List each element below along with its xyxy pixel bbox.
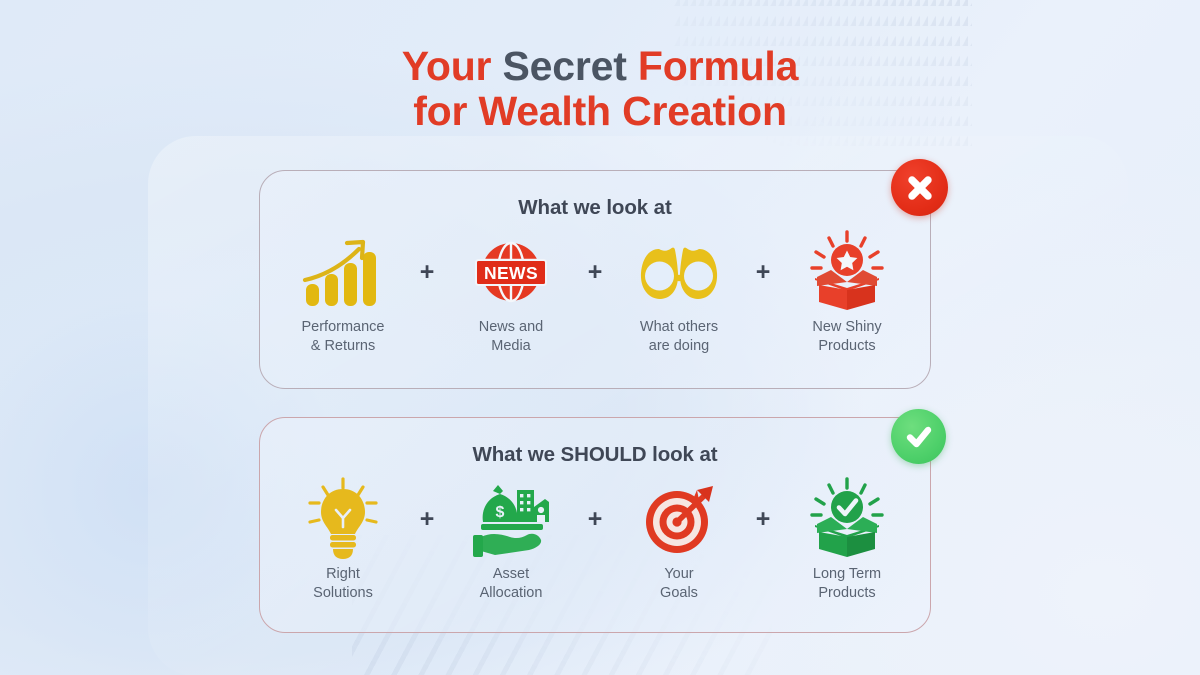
- item-label: Your Goals: [660, 565, 698, 603]
- separator-plus: +: [409, 475, 445, 563]
- news-globe-icon: NEWS: [465, 228, 557, 316]
- target-dart-icon: [633, 475, 725, 563]
- svg-text:NEWS: NEWS: [484, 263, 538, 283]
- page-title-word-formula: Formula: [627, 43, 799, 89]
- item-label: Performance & Returns: [301, 318, 384, 356]
- card-heading-what-we-should-look-at: What we SHOULD look at: [260, 443, 930, 467]
- card-what-we-should-look-at: What we SHOULD look at: [259, 417, 931, 633]
- shiny-box-star-icon: [801, 228, 893, 316]
- bar-chart-growth-icon: [297, 228, 389, 316]
- item-new-shiny-products: New Shiny Products: [781, 228, 913, 356]
- separator-plus: +: [745, 475, 781, 563]
- item-asset-allocation: $ Asset Al: [445, 475, 577, 603]
- lightbulb-idea-icon: [297, 475, 389, 563]
- page-title: Your Secret Formula for Wealth Creation: [0, 44, 1200, 134]
- separator-plus: +: [577, 475, 613, 563]
- svg-text:$: $: [496, 504, 505, 521]
- item-label: Long Term Products: [813, 565, 881, 603]
- separator-plus: +: [577, 228, 613, 316]
- card-what-we-look-at: What we look at Performance: [259, 170, 931, 389]
- card-heading-what-we-look-at: What we look at: [260, 196, 930, 220]
- check-icon: [902, 420, 936, 454]
- cross-icon: [903, 171, 937, 205]
- item-news-and-media: NEWS News and Media: [445, 228, 577, 356]
- item-what-others-are-doing: What others are doing: [613, 228, 745, 356]
- page-title-word-your: Your: [402, 43, 503, 89]
- item-row-what-we-look-at: Performance & Returns + NEWS: [260, 228, 930, 356]
- item-right-solutions: Right Solutions: [277, 475, 409, 603]
- status-badge-negative: [891, 159, 948, 216]
- infographic-canvas: Your Secret Formula for Wealth Creation …: [0, 0, 1200, 675]
- item-label: Right Solutions: [313, 565, 373, 603]
- separator-plus: +: [745, 228, 781, 316]
- hand-assets-icon: $: [465, 475, 557, 563]
- status-badge-positive: [891, 409, 946, 464]
- item-label: News and Media: [479, 318, 543, 356]
- item-label: What others are doing: [640, 318, 718, 356]
- box-check-icon: [801, 475, 893, 563]
- page-title-word-secret: Secret: [503, 43, 627, 89]
- item-row-what-we-should-look-at: Right Solutions + $: [260, 475, 930, 603]
- separator-plus: +: [409, 228, 445, 316]
- item-label: New Shiny Products: [812, 318, 881, 356]
- page-title-line-2: for Wealth Creation: [0, 89, 1200, 134]
- item-long-term-products: Long Term Products: [781, 475, 913, 603]
- item-your-goals: Your Goals: [613, 475, 745, 603]
- binoculars-icon: [633, 228, 725, 316]
- item-performance-returns: Performance & Returns: [277, 228, 409, 356]
- item-label: Asset Allocation: [480, 565, 543, 603]
- page-title-line-1: Your Secret Formula: [0, 44, 1200, 89]
